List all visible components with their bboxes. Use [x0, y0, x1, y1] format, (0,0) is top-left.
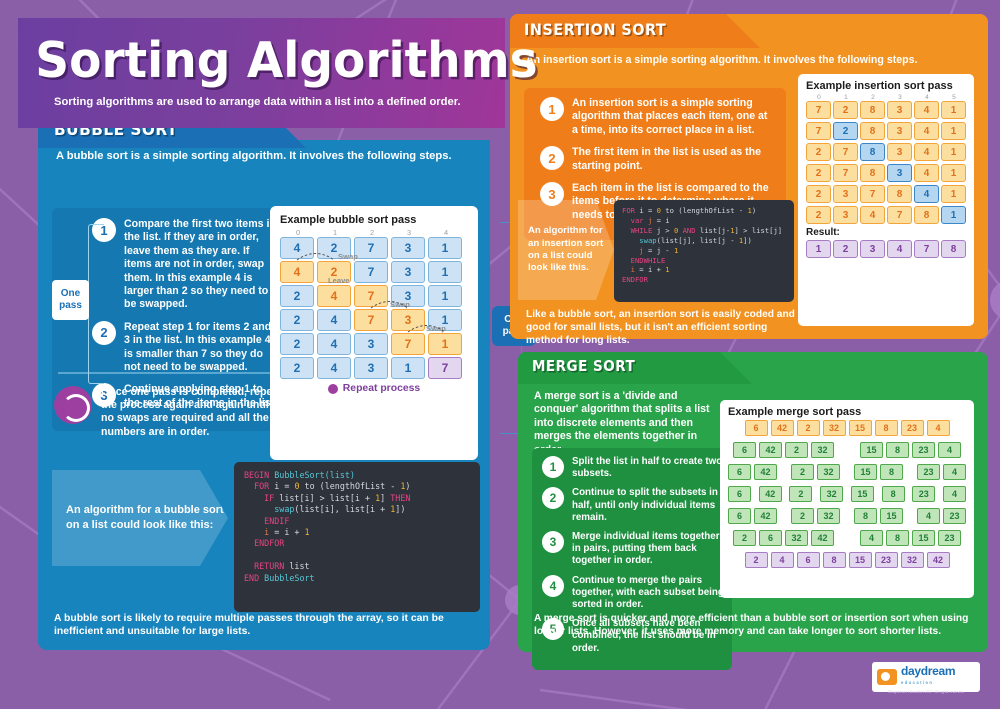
- insertion-code-token: ]): [743, 236, 752, 245]
- bubble-cell: 7: [428, 357, 462, 379]
- merge-group-gap: [840, 464, 854, 480]
- merge-cell: 32: [820, 486, 843, 502]
- merge-sort-title: Merge Sort: [518, 352, 752, 375]
- bubble-index-row: 01234: [280, 228, 468, 237]
- insertion-step-text: The first item in the list is used as th…: [572, 146, 776, 173]
- insertion-cell: 8: [860, 122, 885, 140]
- insertion-cell: 8: [860, 143, 885, 161]
- bubble-cell: 2: [280, 333, 314, 355]
- repeat-process-legend: Repeat process: [280, 383, 468, 394]
- bubble-cell: 3: [391, 237, 425, 259]
- insertion-cell: 2: [806, 206, 831, 224]
- merge-group: 815: [854, 508, 903, 524]
- insertion-cell: 4: [914, 164, 939, 182]
- insertion-sort-title: Insertion Sort: [510, 14, 760, 39]
- bubble-cell: 4: [280, 261, 314, 283]
- insertion-cell: 1: [941, 206, 966, 224]
- bubble-annotation: Swap: [390, 300, 410, 309]
- insertion-cell: 3: [887, 101, 912, 119]
- merge-pass-row: 642232158234: [728, 420, 966, 436]
- insertion-code-callout: An algorithm for an insertion sort on a …: [518, 200, 614, 300]
- merge-cell: 23: [943, 508, 966, 524]
- merge-example-card: Example merge sort pass 6422321582346422…: [720, 400, 974, 598]
- repeat-note-text: Once one pass is completed, repeat the p…: [101, 386, 284, 439]
- insertion-pass-row: 234781: [806, 206, 966, 224]
- bubble-pass-row: 42731: [280, 237, 468, 259]
- merge-group-gap: [903, 464, 917, 480]
- bubble-code-token: swap: [244, 504, 294, 514]
- bubble-cell: 1: [428, 285, 462, 307]
- merge-cell: 2: [785, 442, 808, 458]
- merge-group: 4: [943, 486, 966, 502]
- bubble-cell: 4: [317, 333, 351, 355]
- page-subtitle: Sorting algorithms are used to arrange d…: [18, 90, 505, 108]
- bubble-code-token: ]: [380, 493, 390, 503]
- bubble-index-label: 0: [281, 228, 315, 237]
- merge-pass-row: 642232815423: [728, 508, 966, 524]
- merge-group-gap: [840, 508, 854, 524]
- logo-tagline: education: [901, 677, 955, 689]
- bubble-cell: 4: [317, 357, 351, 379]
- bubble-code-token: i =: [274, 481, 294, 491]
- bubble-index-label: 4: [429, 228, 463, 237]
- insertion-index-label: 2: [861, 94, 885, 101]
- one-pass-bracket: [88, 224, 104, 384]
- insertion-cell: 7: [860, 185, 885, 203]
- merge-cell: 23: [912, 486, 935, 502]
- insertion-cell: 7: [887, 206, 912, 224]
- bubble-rows-container: 4273142731Swap24731Leave24731Swap24371Sw…: [280, 237, 468, 379]
- merge-pass-row: 642232158234: [728, 442, 966, 458]
- merge-cell: 23: [938, 530, 961, 546]
- bubble-annotation: Swap: [338, 252, 358, 261]
- merge-cell: 15: [860, 442, 883, 458]
- insertion-cell: 3: [887, 164, 912, 182]
- insertion-cell: 8: [860, 101, 885, 119]
- merge-step-number: 3: [542, 531, 564, 553]
- merge-group-gap: [834, 530, 860, 546]
- bubble-annotation: Swap: [426, 324, 446, 333]
- merge-group-gap: [751, 486, 759, 502]
- bubble-cell: 4: [280, 237, 314, 259]
- merge-cell: 8: [886, 530, 909, 546]
- merge-group-gap: [834, 442, 860, 458]
- merge-group: 234: [917, 464, 966, 480]
- insertion-cell: 7: [833, 143, 858, 161]
- insertion-cell: 2: [806, 164, 831, 182]
- merge-group-gap: [905, 486, 913, 502]
- insertion-index-label: 5: [942, 94, 966, 101]
- bubble-code-token: THEN: [390, 493, 410, 503]
- insertion-code-token: i: [622, 265, 635, 274]
- merge-group: 2: [789, 486, 812, 502]
- merge-cell: 6: [797, 552, 820, 568]
- insertion-cell: 4: [914, 101, 939, 119]
- bubble-sort-section: Bubble Sort A bubble sort is a simple so…: [38, 140, 490, 650]
- insertion-index-row: 012345: [806, 94, 966, 101]
- bubble-cell: 2: [280, 309, 314, 331]
- bubble-cell: 2: [280, 285, 314, 307]
- bubble-code-token: ENDFOR: [244, 538, 284, 548]
- bubble-code-token: 1: [305, 527, 310, 537]
- insertion-code-token: ENDWHILE: [622, 256, 665, 265]
- merge-group: 642: [728, 464, 777, 480]
- merge-step: 2Continue to split the subsets in half, …: [536, 487, 724, 524]
- merge-cell: 32: [901, 552, 924, 568]
- bubble-cell: 7: [354, 237, 388, 259]
- insertion-code-token: 1: [665, 265, 669, 274]
- bubble-sort-code: BEGIN BubbleSort(list) FOR i = 0 to (len…: [234, 462, 480, 612]
- insertion-pass-row: 278341: [806, 164, 966, 182]
- merge-cell: 8: [875, 420, 898, 436]
- insertion-cell: 7: [806, 101, 831, 119]
- bubble-code-token: IF: [244, 493, 279, 503]
- insertion-cell: 3: [887, 143, 912, 161]
- insertion-cell: 2: [833, 101, 858, 119]
- merge-cell: 15: [849, 420, 872, 436]
- insertion-cell: 2: [806, 185, 831, 203]
- merge-sort-header: Merge Sort: [518, 352, 752, 384]
- merge-sort-footnote: A merge sort is quicker and more efficie…: [534, 612, 974, 638]
- merge-pass-row: 642232158234: [728, 464, 966, 480]
- insertion-cell: 2: [833, 122, 858, 140]
- insertion-cell: 1: [941, 122, 966, 140]
- merge-cell: 4: [917, 508, 940, 524]
- merge-cell: 42: [771, 420, 794, 436]
- merge-group: 23: [912, 486, 935, 502]
- bubble-cell: 4: [317, 309, 351, 331]
- insertion-step-number: 2: [540, 146, 564, 170]
- insertion-result-cell: 4: [887, 240, 912, 258]
- insertion-cell: 4: [914, 143, 939, 161]
- merge-group: 642232158234: [745, 420, 950, 436]
- insertion-sort-header: Insertion Sort: [510, 14, 760, 48]
- bubble-code-token: ): [405, 481, 410, 491]
- insertion-cell: 1: [941, 101, 966, 119]
- insertion-result-label: Result:: [806, 227, 966, 238]
- insertion-code-token: 1: [674, 246, 678, 255]
- merge-cell: 2: [745, 552, 768, 568]
- merge-cell: 32: [811, 442, 834, 458]
- bubble-code-token: BubbleSort: [264, 573, 314, 583]
- merge-cell: 4: [938, 442, 961, 458]
- merge-cell: 15: [854, 464, 877, 480]
- insertion-code-token: FOR: [622, 206, 639, 215]
- merge-group: 423: [917, 508, 966, 524]
- insertion-index-label: 1: [834, 94, 858, 101]
- bubble-code-token: to (lengthOfList -: [299, 481, 400, 491]
- merge-cell: 23: [901, 420, 924, 436]
- bubble-cell: 1: [428, 261, 462, 283]
- bubble-cell: 1: [428, 237, 462, 259]
- merge-cell: 2: [791, 508, 814, 524]
- merge-group: 42: [759, 486, 782, 502]
- logo-wordmark: daydream education: [901, 665, 955, 689]
- merge-group: 481523: [860, 530, 961, 546]
- insertion-result-cell: 3: [860, 240, 885, 258]
- merge-group: 6: [728, 486, 751, 502]
- merge-step-number: 2: [542, 487, 564, 509]
- merge-example-title: Example merge sort pass: [728, 406, 966, 418]
- merge-group: 32: [820, 486, 843, 502]
- insertion-cell: 3: [833, 206, 858, 224]
- merge-cell: 23: [875, 552, 898, 568]
- merge-pass-row: 263242481523: [728, 530, 966, 546]
- insertion-code-token: swap: [622, 236, 657, 245]
- bubble-cell: 3: [354, 333, 388, 355]
- merge-group-gap: [777, 464, 791, 480]
- one-pass-label: One pass: [52, 280, 89, 320]
- insertion-result-row: 123478: [806, 240, 966, 258]
- merge-cell: 4: [771, 552, 794, 568]
- insertion-pass-row: 728341: [806, 122, 966, 140]
- merge-step-text: Merge individual items together in pairs…: [572, 531, 724, 568]
- bubble-pass-row: 42731Swap: [280, 261, 468, 283]
- merge-step: 3Merge individual items together in pair…: [536, 531, 724, 568]
- bubble-cell: 4: [317, 285, 351, 307]
- merge-group: 232: [791, 508, 840, 524]
- merge-cell: 4: [860, 530, 883, 546]
- merge-group: 642232: [733, 442, 834, 458]
- merge-rows-container: 6422321582346422321582346422321582346422…: [728, 420, 966, 568]
- merge-cell: 4: [943, 486, 966, 502]
- insertion-result-cell: 2: [833, 240, 858, 258]
- merge-group-gap: [777, 508, 791, 524]
- merge-group: 158: [854, 464, 903, 480]
- insertion-code-token: = i: [652, 216, 669, 225]
- bubble-index-label: 2: [355, 228, 389, 237]
- insertion-cell: 2: [806, 143, 831, 161]
- merge-cell: 42: [927, 552, 950, 568]
- bubble-code-token: RETURN: [244, 561, 289, 571]
- insertion-code-token: = i +: [635, 265, 665, 274]
- insertion-cell: 8: [914, 206, 939, 224]
- insertion-cell: 7: [833, 164, 858, 182]
- bubble-cell: 7: [354, 261, 388, 283]
- bubble-cell: 7: [391, 333, 425, 355]
- merge-cell: 2: [789, 486, 812, 502]
- insertion-cell: 1: [941, 164, 966, 182]
- merge-cell: 32: [817, 508, 840, 524]
- merge-cell: 42: [759, 486, 782, 502]
- bubble-code-callout: An algorithm for a bubble sort on a list…: [52, 470, 228, 566]
- merge-cell: 32: [817, 464, 840, 480]
- bubble-code-token: FOR: [244, 481, 274, 491]
- insertion-cell: 3: [887, 122, 912, 140]
- insertion-code-token: = j -: [644, 246, 674, 255]
- insertion-cell: 8: [887, 185, 912, 203]
- merge-cell: 42: [754, 508, 777, 524]
- merge-cell: 42: [754, 464, 777, 480]
- merge-cell: 6: [728, 464, 751, 480]
- insertion-step: 2The first item in the list is used as t…: [532, 146, 776, 173]
- insertion-code-token: j >: [657, 226, 674, 235]
- copyright-text: ©Daydream Education 2017. All rights res…: [872, 690, 980, 694]
- bubble-cell: 7: [354, 309, 388, 331]
- bubble-cell: 2: [280, 357, 314, 379]
- bubble-code-token: (list[i], list[i +: [294, 504, 390, 514]
- insertion-cell: 4: [860, 206, 885, 224]
- insertion-cell: 4: [914, 185, 939, 203]
- merge-cell: 32: [823, 420, 846, 436]
- insertion-sort-footnote: Like a bubble sort, an insertion sort is…: [526, 308, 798, 348]
- insertion-code-token: var: [622, 216, 648, 225]
- merge-group-gap: [843, 486, 851, 502]
- bubble-code-token: = i +: [269, 527, 304, 537]
- daydream-logo[interactable]: daydream education: [872, 662, 980, 692]
- merge-cell: 23: [917, 464, 940, 480]
- page-title: Sorting Algorithms: [18, 18, 486, 90]
- merge-cell: 23: [912, 442, 935, 458]
- merge-cell: 6: [745, 420, 768, 436]
- insertion-code-token: ] > list[j]: [735, 226, 783, 235]
- insertion-result-cell: 7: [914, 240, 939, 258]
- insertion-code-token: j: [622, 246, 644, 255]
- merge-cell: 8: [880, 464, 903, 480]
- merge-step-text: Continue to split the subsets in half, u…: [572, 487, 724, 524]
- bubble-cell: 7: [354, 285, 388, 307]
- insertion-step-number: 1: [540, 97, 564, 121]
- bubble-example-title: Example bubble sort pass: [280, 214, 468, 226]
- bubble-cell: 1: [428, 333, 462, 355]
- insertion-sort-code: FOR i = 0 to (lengthOfList - 1) var j = …: [614, 200, 794, 302]
- merge-group: 263242: [733, 530, 834, 546]
- insertion-code-token: list[j-: [700, 226, 730, 235]
- bubble-code-token: BEGIN: [244, 470, 274, 480]
- merge-group: 232: [791, 464, 840, 480]
- bubble-pass-row: 24317: [280, 357, 468, 379]
- bubble-cell: 3: [354, 357, 388, 379]
- bubble-example-card: Example bubble sort pass 01234 427314273…: [270, 206, 478, 460]
- insertion-index-label: 3: [888, 94, 912, 101]
- merge-step-number: 4: [542, 575, 564, 597]
- merge-cell: 42: [811, 530, 834, 546]
- merge-cell: 4: [927, 420, 950, 436]
- merge-group: 8: [882, 486, 905, 502]
- merge-cell: 15: [880, 508, 903, 524]
- insertion-example-title: Example insertion sort pass: [806, 80, 966, 92]
- insertion-pass-row: 728341: [806, 101, 966, 119]
- merge-cell: 8: [886, 442, 909, 458]
- merge-cell: 15: [851, 486, 874, 502]
- bubble-code-token: BubbleSort(list): [274, 470, 355, 480]
- logo-name: daydream: [901, 664, 955, 678]
- merge-group-gap: [935, 486, 943, 502]
- merge-cell: 4: [943, 464, 966, 480]
- merge-cell: 2: [791, 464, 814, 480]
- insertion-step-text: An insertion sort is a simple sorting al…: [572, 97, 776, 137]
- insertion-result-cell: 8: [941, 240, 966, 258]
- repeat-dot-icon: [328, 384, 338, 394]
- insertion-cell: 8: [860, 164, 885, 182]
- bubble-repeat-note: Once one pass is completed, repeat the p…: [54, 386, 284, 439]
- bubble-step-text: Compare the first two items in the list.…: [124, 218, 278, 312]
- merge-cell: 8: [823, 552, 846, 568]
- merge-group-gap: [903, 508, 917, 524]
- bubble-cell: 1: [391, 357, 425, 379]
- merge-group: 246815233242: [745, 552, 950, 568]
- bubble-cell: 3: [391, 261, 425, 283]
- bubble-code-token: list: [289, 561, 309, 571]
- bubble-pass-row: 24731Leave: [280, 285, 468, 307]
- insertion-pass-row: 278341: [806, 143, 966, 161]
- insertion-code-token: ): [752, 206, 756, 215]
- bubble-code-token: END: [244, 573, 264, 583]
- insertion-code-token: ENDFOR: [622, 275, 648, 284]
- merge-group: 158234: [860, 442, 961, 458]
- repeat-icon: [54, 386, 92, 424]
- merge-pass-row: 642232158234: [728, 486, 966, 502]
- insertion-cell: 7: [806, 122, 831, 140]
- merge-cell: 32: [785, 530, 808, 546]
- repeat-process-label: Repeat process: [343, 383, 420, 394]
- merge-cell: 6: [733, 442, 756, 458]
- merge-step: 1Split the list in half to create two su…: [536, 456, 724, 480]
- insertion-cell: 1: [941, 143, 966, 161]
- bubble-code-token: list[i] > list[i +: [279, 493, 375, 503]
- insertion-code-token: AND: [683, 226, 700, 235]
- merge-sort-section: Merge Sort A merge sort is a 'divide and…: [518, 352, 988, 652]
- poster-header: Sorting Algorithms Sorting algorithms ar…: [18, 18, 505, 128]
- insertion-code-token: to (lengthOfList -: [661, 206, 748, 215]
- insertion-cell: 1: [941, 185, 966, 203]
- merge-cell: 6: [728, 486, 751, 502]
- insertion-code-token: WHILE: [622, 226, 657, 235]
- merge-cell: 2: [733, 530, 756, 546]
- merge-cell: 8: [882, 486, 905, 502]
- merge-group-gap: [812, 486, 820, 502]
- logo-mark-icon: [877, 669, 897, 685]
- insertion-code-token: (list[j], list[j -: [657, 236, 739, 245]
- merge-group-gap: [874, 486, 882, 502]
- bubble-code-token: i: [244, 527, 269, 537]
- insertion-cell: 4: [914, 122, 939, 140]
- merge-group: 642: [728, 508, 777, 524]
- bubble-code-token: ]): [395, 504, 405, 514]
- bubble-index-label: 3: [392, 228, 426, 237]
- merge-cell: 15: [912, 530, 935, 546]
- bubble-code-token: ENDIF: [244, 516, 289, 526]
- bubble-cell: 3: [391, 309, 425, 331]
- insertion-rows-container: 728341728341278341278341237841234781: [806, 101, 966, 224]
- merge-step-number: 1: [542, 456, 564, 478]
- insertion-pass-row: 237841: [806, 185, 966, 203]
- merge-step-text: Continue to merge the pairs together, wi…: [572, 575, 724, 612]
- insertion-example-card: Example insertion sort pass 012345 72834…: [798, 74, 974, 326]
- insertion-result-cell: 1: [806, 240, 831, 258]
- merge-cell: 15: [849, 552, 872, 568]
- merge-cell: 8: [854, 508, 877, 524]
- merge-cell: 6: [759, 530, 782, 546]
- merge-step: 4Continue to merge the pairs together, w…: [536, 575, 724, 612]
- insertion-code-token: i =: [639, 206, 656, 215]
- merge-pass-row: 246815233242: [728, 552, 966, 568]
- insertion-step: 1An insertion sort is a simple sorting a…: [532, 97, 776, 137]
- merge-cell: 6: [728, 508, 751, 524]
- merge-step-text: Split the list in half to create two sub…: [572, 456, 724, 480]
- merge-cell: 2: [797, 420, 820, 436]
- insertion-index-label: 4: [915, 94, 939, 101]
- merge-group: 15: [851, 486, 874, 502]
- merge-group-gap: [782, 486, 790, 502]
- bubble-annotation: Leave: [328, 276, 350, 285]
- bubble-sort-footnote: A bubble sort is likely to require multi…: [54, 612, 474, 638]
- bubble-pass-row: 24371Swap: [280, 333, 468, 355]
- merge-cell: 42: [759, 442, 782, 458]
- insertion-cell: 3: [833, 185, 858, 203]
- insertion-sort-section: Insertion Sort An insertion sort is a si…: [510, 14, 988, 339]
- bubble-index-label: 1: [318, 228, 352, 237]
